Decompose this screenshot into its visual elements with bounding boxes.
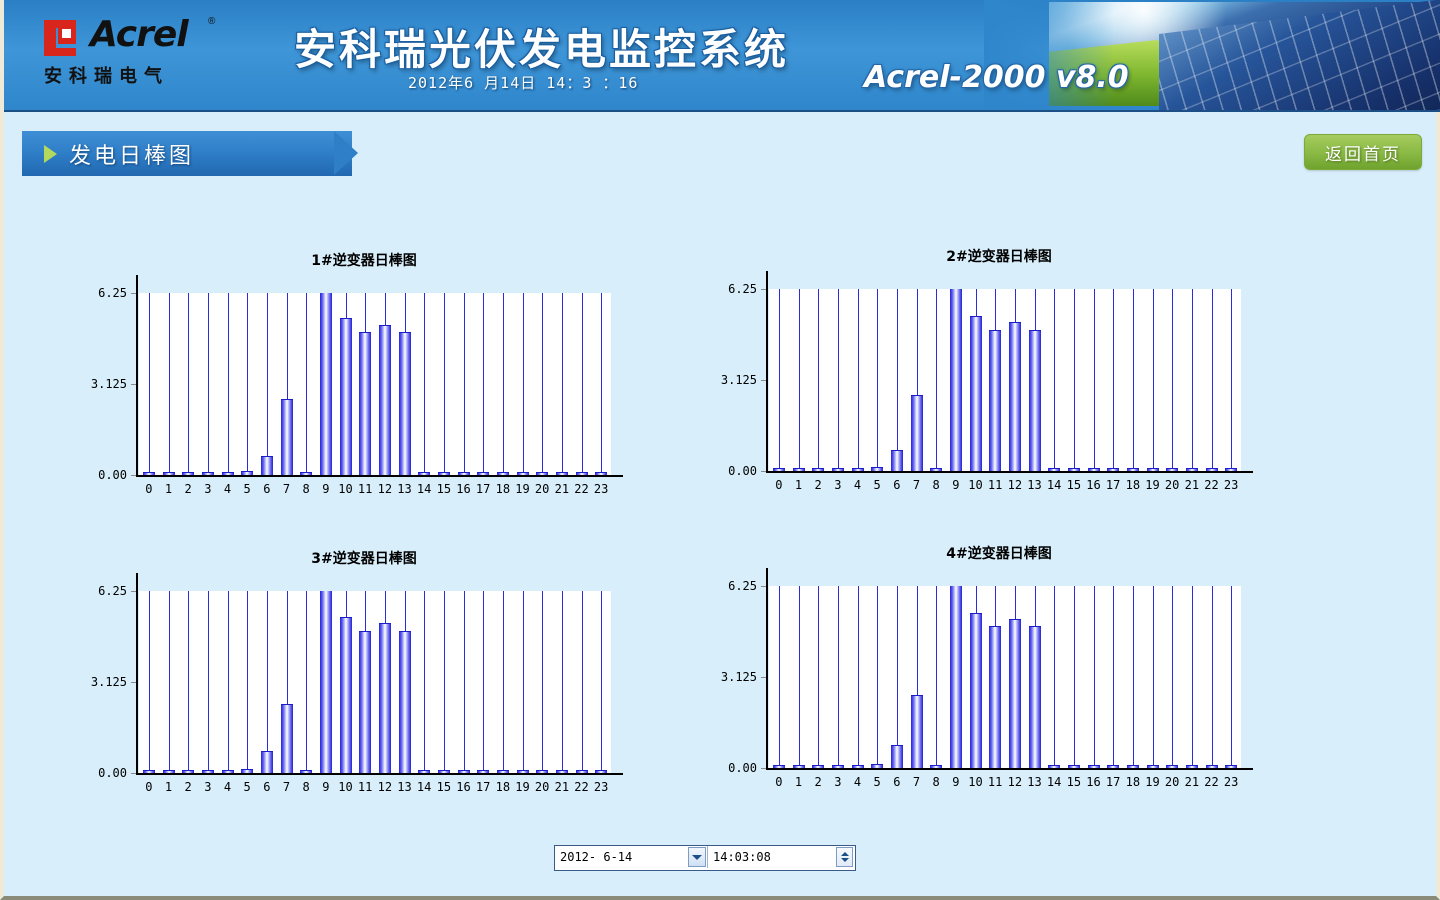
x-tick-label: 23 [1219,775,1243,789]
acrel-logo-chinese: 安科瑞电气 [44,62,169,88]
gridline [267,591,268,773]
app-header: Acrel ® 安科瑞电气 安科瑞光伏发电监控系统 2012年6 月14日 14… [4,0,1440,112]
gridline [601,591,602,773]
gridline [582,591,583,773]
plot-area [769,289,1241,471]
gridline [601,293,602,475]
plot-area [769,586,1241,768]
x-axis [766,768,1253,770]
gridline [542,591,543,773]
page-title-banner: 发电日棒图 [22,131,352,176]
y-axis [766,568,768,770]
chart-inverter-2: 2#逆变器日棒图0.003.1256.250123456789101112131… [694,246,1304,476]
gridline [523,293,524,475]
y-tick-mark [131,773,136,774]
gridline [897,586,898,768]
chart-title: 2#逆变器日棒图 [694,246,1304,266]
gridline [228,293,229,475]
gridline [779,586,780,768]
bar [950,289,962,471]
caret-up-shape [841,852,849,856]
chart-inverter-4: 4#逆变器日棒图0.003.1256.250123456789101112131… [694,543,1304,773]
x-tick-label: 23 [589,482,613,496]
acrel-logo-mark [42,18,82,58]
gridline [1113,289,1114,471]
gridline [1172,289,1173,471]
gridline [1192,586,1193,768]
application-window: Acrel ® 安科瑞电气 安科瑞光伏发电监控系统 2012年6 月14日 14… [0,0,1440,900]
gridline [1094,289,1095,471]
plot-area [139,293,611,475]
gridline [149,591,150,773]
y-tick-label: 0.00 [67,468,127,482]
gridline [503,591,504,773]
bar [970,613,982,768]
gridline [169,591,170,773]
gridline [1133,586,1134,768]
x-axis [766,471,1253,473]
gridline [169,293,170,475]
bar [261,751,273,773]
bar [261,456,273,475]
y-tick-mark [761,677,766,678]
gridline [1113,586,1114,768]
gridline [936,586,937,768]
gridline [779,289,780,471]
gridline [208,591,209,773]
page-title: 发电日棒图 [69,138,194,170]
y-tick-label: 3.125 [697,373,757,387]
gridline [858,289,859,471]
gridline [188,293,189,475]
datetime-controls: 2012- 6-14 14:03:08 [554,845,856,871]
y-tick-mark [131,682,136,683]
y-tick-label: 0.00 [697,761,757,775]
bar [281,704,293,773]
gridline [483,293,484,475]
triangle-bullet-icon [44,145,57,163]
gridline [582,293,583,475]
y-tick-mark [761,380,766,381]
bar [340,318,352,475]
acrel-logo: Acrel ® 安科瑞电气 [38,14,218,96]
gridline [1054,289,1055,471]
gridline [444,293,445,475]
gridline [838,289,839,471]
y-tick-mark [761,471,766,472]
gridline [503,293,504,475]
gridline [1074,289,1075,471]
gridline [936,289,937,471]
gridline [1212,586,1213,768]
chart-inverter-3: 3#逆变器日棒图0.003.1256.250123456789101112131… [64,548,664,778]
y-tick-label: 3.125 [67,675,127,689]
y-tick-mark [131,293,136,294]
gridline [799,586,800,768]
y-tick-mark [131,475,136,476]
gridline [1074,586,1075,768]
system-datetime: 2012年6 月14日 14：3 ：16 [408,72,638,93]
gridline [464,591,465,773]
gridline [306,591,307,773]
gridline [1054,586,1055,768]
bar [950,586,962,768]
gridline [1212,289,1213,471]
time-spinner-field[interactable]: 14:03:08 [708,846,855,868]
gridline [483,591,484,773]
plot-area [139,591,611,773]
bar [989,626,1001,768]
banner-arrow-tip [334,131,358,175]
chart-title: 4#逆变器日棒图 [694,543,1304,563]
bar [359,332,371,475]
y-tick-label: 0.00 [697,464,757,478]
gridline [188,591,189,773]
y-tick-label: 6.25 [697,579,757,593]
return-home-button[interactable]: 返回首页 [1304,134,1422,170]
bar [320,293,332,475]
bar [399,332,411,475]
x-axis [136,475,623,477]
y-tick-mark [131,591,136,592]
chevron-down-icon[interactable] [688,847,706,867]
gridline [838,586,839,768]
y-tick-label: 3.125 [697,670,757,684]
bar [891,450,903,471]
date-picker[interactable]: 2012- 6-14 [555,846,708,868]
x-tick-label: 23 [1219,478,1243,492]
bar [1029,626,1041,768]
gridline [542,293,543,475]
y-tick-mark [761,768,766,769]
time-spinner-value: 14:03:08 [708,850,771,864]
bar [281,399,293,475]
date-picker-value: 2012- 6-14 [555,850,632,864]
gridline [247,293,248,475]
bar [1009,322,1021,471]
gridline [523,591,524,773]
chart-title: 3#逆变器日棒图 [64,548,664,568]
bar [989,330,1001,471]
caret-down-shape [841,858,849,862]
y-axis [136,275,138,477]
gridline [562,591,563,773]
gridline [267,293,268,475]
chart-inverter-1: 1#逆变器日棒图0.003.1256.250123456789101112131… [64,250,664,480]
gridline [897,289,898,471]
gridline [799,289,800,471]
bar [911,695,923,768]
acrel-logo-text: Acrel [90,14,188,55]
gridline [306,293,307,475]
x-tick-label: 23 [589,780,613,794]
gridline [858,586,859,768]
bar [399,631,411,773]
registered-mark-icon: ® [208,16,215,27]
bar [1009,619,1021,768]
gridline [1153,586,1154,768]
system-title: 安科瑞光伏发电监控系统 [294,16,789,77]
y-tick-label: 6.25 [697,282,757,296]
gridline [877,586,878,768]
gridline [149,293,150,475]
y-axis [766,271,768,473]
y-tick-mark [761,586,766,587]
bar [359,631,371,773]
spinner-updown-icon[interactable] [836,847,853,867]
y-tick-mark [761,289,766,290]
gridline [1094,586,1095,768]
y-tick-label: 6.25 [67,286,127,300]
gridline [1231,586,1232,768]
gridline [208,293,209,475]
chart-title: 1#逆变器日棒图 [64,250,664,270]
gridline [818,586,819,768]
y-tick-mark [131,384,136,385]
gridline [1172,586,1173,768]
gridline [562,293,563,475]
gridline [1231,289,1232,471]
gridline [1192,289,1193,471]
y-axis [136,573,138,775]
gridline [247,591,248,773]
gridline [424,293,425,475]
y-tick-label: 0.00 [67,766,127,780]
bar [320,591,332,773]
gridline [424,591,425,773]
bar [379,623,391,773]
y-tick-label: 3.125 [67,377,127,391]
gridline [228,591,229,773]
gridline [444,591,445,773]
system-version: Acrel-2000 v8.0 [864,60,1129,95]
y-tick-label: 6.25 [67,584,127,598]
bar [340,617,352,773]
gridline [877,289,878,471]
bar [891,745,903,768]
gridline [1133,289,1134,471]
gridline [1153,289,1154,471]
bar [970,316,982,471]
bar [911,395,923,471]
bar [379,325,391,475]
gridline [818,289,819,471]
caret-down-shape [692,855,702,860]
x-axis [136,773,623,775]
bar [1029,330,1041,471]
gridline [464,293,465,475]
